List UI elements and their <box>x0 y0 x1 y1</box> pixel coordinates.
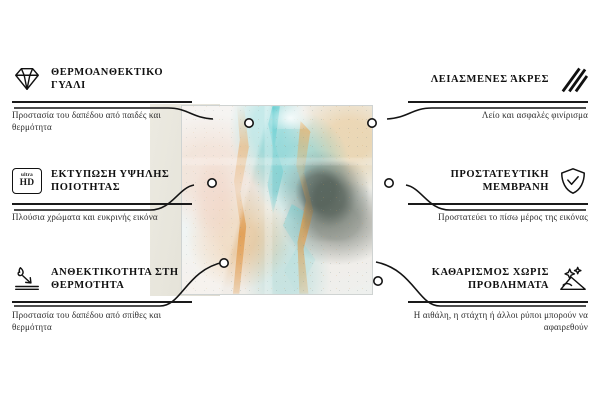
feature-title: ΠΡΟΣΤΑΤΕΥΤΙΚΗ ΜΕΜΒΡΑΝΗ <box>408 168 549 194</box>
feature-description: Πλούσια χρώματα και ευκρινής εικόνα <box>12 211 192 223</box>
diagonal-stripes-icon <box>558 64 588 94</box>
connector-dot-6 <box>374 277 382 285</box>
ultra-hd-badge-bottom-label: HD <box>20 179 35 189</box>
feature-description: Προστασία του δαπέδου από σπίθες και θερ… <box>12 309 192 333</box>
feature-heat-resistant-glass: ΘΕΡΜΟΑΝΘΕΚΤΙΚΟ ΓΥΑΛΙ Προστασία του δαπέδ… <box>12 62 192 133</box>
feature-description: Λείο και ασφαλές φινίρισμα <box>408 109 588 121</box>
feature-description: Προστατεύει το πίσω μέρος της εικόνας <box>408 211 588 223</box>
connector-dot-4 <box>368 119 376 127</box>
feature-divider <box>12 301 192 303</box>
connector-dot-1 <box>245 119 253 127</box>
feature-high-quality-print: ultra HD ΕΚΤΥΠΩΣΗ ΥΨΗΛΗΣ ΠΟΙΟΤΗΤΑΣ Πλούσ… <box>12 164 192 223</box>
feature-heat-durability: ΑΝΘΕΚΤΙΚΟΤΗΤΑ ΣΤΗ ΘΕΡΜΟΤΗΤΑ Προστασία το… <box>12 262 192 333</box>
infographic-stage: ΘΕΡΜΟΑΝΘΕΚΤΙΚΟ ΓΥΑΛΙ Προστασία του δαπέδ… <box>0 0 600 400</box>
feature-description: Η αιθάλη, η στάχτη ή άλλοι ρύποι μπορούν… <box>408 309 588 333</box>
feature-description: Προστασία του δαπέδου από παιδές και θερ… <box>12 109 192 133</box>
feature-divider <box>408 203 588 205</box>
feature-easy-cleaning: ΚΑΘΑΡΙΣΜΟΣ ΧΩΡΙΣ ΠΡΟΒΛΗΜΑΤΑ Η αιθάλη, η … <box>408 262 588 333</box>
sparkle-clean-icon <box>558 264 588 294</box>
feature-title: ΛΕΙΑΣΜΕΝΕΣ ΆΚΡΕΣ <box>431 73 549 86</box>
connector-dot-2 <box>208 179 216 187</box>
connector-dot-5 <box>385 179 393 187</box>
shield-check-icon <box>558 166 588 196</box>
feature-divider <box>408 101 588 103</box>
feature-divider <box>12 203 192 205</box>
feature-title: ΑΝΘΕΚΤΙΚΟΤΗΤΑ ΣΤΗ ΘΕΡΜΟΤΗΤΑ <box>51 266 192 292</box>
feature-divider <box>12 101 192 103</box>
connector-dot-3 <box>220 259 228 267</box>
feature-title: ΕΚΤΥΠΩΣΗ ΥΨΗΛΗΣ ΠΟΙΟΤΗΤΑΣ <box>51 168 192 194</box>
ultra-hd-badge-icon: ultra HD <box>12 168 42 194</box>
feature-polished-edges: ΛΕΙΑΣΜΕΝΕΣ ΆΚΡΕΣ Λείο και ασφαλές φινίρι… <box>408 62 588 121</box>
feature-title: ΚΑΘΑΡΙΣΜΟΣ ΧΩΡΙΣ ΠΡΟΒΛΗΜΑΤΑ <box>408 266 549 292</box>
flame-deflect-icon <box>12 264 42 294</box>
feature-protective-membrane: ΠΡΟΣΤΑΤΕΥΤΙΚΗ ΜΕΜΒΡΑΝΗ Προστατεύει το πί… <box>408 164 588 223</box>
feature-divider <box>408 301 588 303</box>
diamond-icon <box>12 64 42 94</box>
feature-title: ΘΕΡΜΟΑΝΘΕΚΤΙΚΟ ΓΥΑΛΙ <box>51 66 192 92</box>
